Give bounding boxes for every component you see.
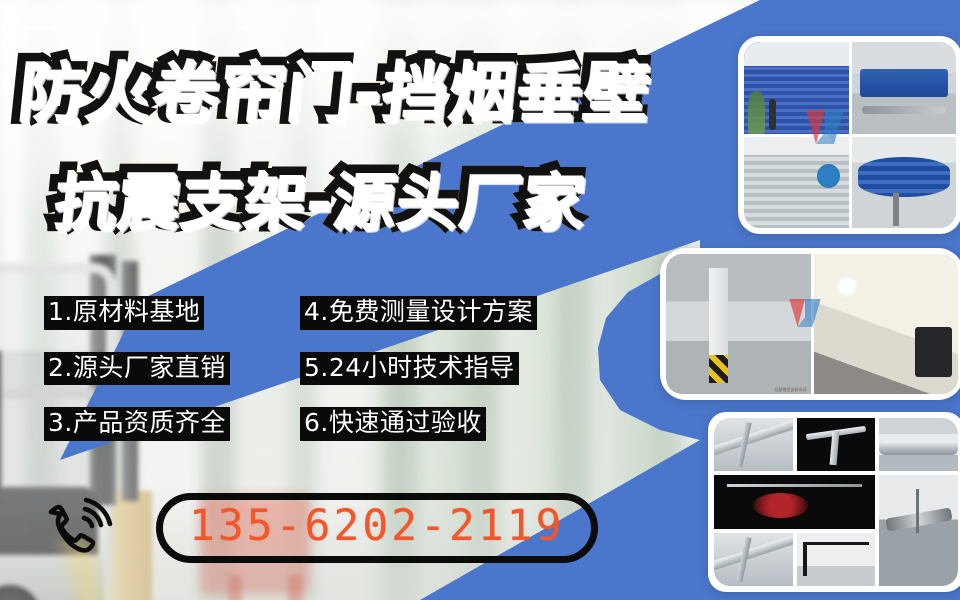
promo-poster: 防火卷帘门-挡烟垂壁 抗震支架-源头厂家 1.原材料基地 4.免费测量设计方案 … [0, 0, 960, 600]
photo-ceiling-with-downlights [814, 254, 959, 394]
photo-caption: 挡烟垂壁安装现场 [775, 388, 807, 392]
photo-duct-hanger-installation [714, 533, 793, 586]
photo-ceiling-pipe-bracing [714, 418, 793, 471]
photo-ceiling-fan-seismic-support [879, 475, 958, 586]
feature-list: 1.原材料基地 4.免费测量设计方案 2.源头厂家直销 5.24小时技术指导 3… [44, 296, 564, 463]
photo-gray-rolling-shutter-corridor [744, 137, 849, 229]
photo-grid [744, 42, 956, 228]
photo-red-fan-duct-bracing [714, 475, 875, 528]
feature-item-4: 4.免费测量设计方案 [300, 296, 537, 330]
feature-row: 1.原材料基地 4.免费测量设计方案 [44, 296, 564, 330]
photo-blue-rolling-fire-shutter-door [744, 42, 849, 134]
photo-blue-shutter-coil-roll [852, 137, 957, 229]
feature-column-right: 4.免费测量设计方案 [300, 296, 556, 330]
photo-grid [714, 418, 958, 586]
photo-seismic-brace-detail-dark [797, 418, 876, 471]
photo-shutter-production-machinery [852, 42, 957, 134]
headline-primary: 防火卷帘门-挡烟垂壁 [11, 36, 652, 132]
feature-item-6: 6.快速通过验收 [300, 407, 486, 441]
contact-row[interactable]: 135-6202-2119 [44, 492, 598, 564]
feature-column-left: 1.原材料基地 [44, 296, 300, 330]
collage-seismic-bracket-photos[interactable] [708, 412, 960, 592]
headline-secondary: 抗震支架-源头厂家 [47, 148, 587, 238]
phone-ringing-icon [44, 492, 116, 564]
feature-row: 3.产品资质齐全 6.快速通过验收 [44, 407, 564, 441]
feature-item-5: 5.24小时技术指导 [300, 352, 519, 386]
headline-primary-text: 防火卷帘门-挡烟垂壁 [11, 51, 650, 128]
photo-grid: 挡烟垂壁安装现场 [666, 254, 958, 394]
photo-frame-support-room [797, 533, 876, 586]
feature-item-2: 2.源头厂家直销 [44, 352, 230, 386]
headline-secondary-text: 抗震支架-源头厂家 [48, 162, 586, 235]
feature-item-3: 3.产品资质齐全 [44, 407, 230, 441]
feature-item-1: 1.原材料基地 [44, 296, 204, 330]
feature-row: 2.源头厂家直销 5.24小时技术指导 [44, 352, 564, 386]
photo-pipe-clamp-support [879, 418, 958, 471]
collage-smoke-barrier-photos[interactable]: 挡烟垂壁安装现场 [660, 248, 960, 400]
photo-underground-parking-garage-columns: 挡烟垂壁安装现场 [666, 254, 811, 394]
feature-column-right: 5.24小时技术指导 [300, 352, 556, 386]
phone-number: 135-6202-2119 [189, 501, 565, 551]
collage-fire-shutter-photos[interactable] [738, 36, 960, 234]
feature-column-left: 3.产品资质齐全 [44, 407, 300, 441]
feature-column-right: 6.快速通过验收 [300, 407, 556, 441]
phone-number-pill[interactable]: 135-6202-2119 [156, 493, 598, 562]
feature-column-left: 2.源头厂家直销 [44, 352, 300, 386]
